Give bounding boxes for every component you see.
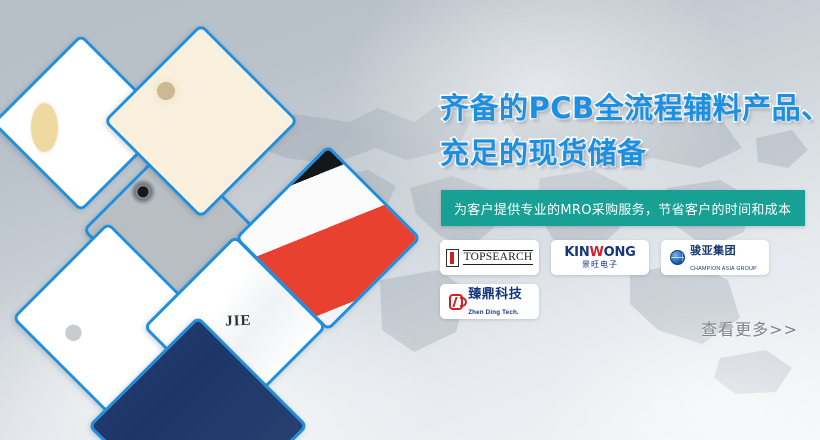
banner-subtitle-text: 为客户提供专业的MRO采购服务，节省客户的时间和成本: [441, 199, 791, 218]
kinwong-word-a: KIN: [564, 245, 589, 260]
champion-asia-wordmark-cn: 骏亚集团: [690, 245, 736, 257]
zhending-mark-icon: [449, 294, 463, 310]
globe-icon: [670, 250, 685, 265]
client-logo-row-1: TOPSEARCH KINWONG 景旺电子 骏亚集: [440, 240, 820, 275]
client-logo-champion-asia[interactable]: 骏亚集团 CHAMPION ASIA GROUP: [661, 240, 769, 275]
banner-subtitle-bar: 为客户提供专业的MRO采购服务，节省客户的时间和成本: [441, 190, 805, 226]
topsearch-mark-icon: [446, 249, 459, 267]
bag-print-label: JIE: [225, 312, 252, 330]
client-logo-topsearch[interactable]: TOPSEARCH: [440, 240, 539, 275]
client-logo-kinwong[interactable]: KINWONG 景旺电子: [551, 240, 649, 275]
banner-headline: 齐备的PCB全流程辅料产品、 充足的现货储备: [440, 86, 820, 176]
topsearch-wordmark: TOPSEARCH: [463, 250, 534, 265]
view-more-link[interactable]: 查看更多>>: [701, 316, 798, 340]
kinwong-wordmark-icon: KINWONG 景旺电子: [564, 246, 635, 269]
headline-line-2: 充足的现货储备: [440, 131, 820, 176]
zhending-wordmark-cn: 臻鼎科技: [468, 286, 522, 301]
product-diamond-collage: JIE: [0, 0, 430, 440]
headline-line-1: 齐备的PCB全流程辅料产品、: [440, 91, 820, 125]
champion-asia-wordmark-en: CHAMPION ASIA GROUP: [690, 266, 757, 272]
client-logo-row-2: 臻鼎科技 Zhen Ding Tech.: [440, 284, 820, 319]
kinwong-word-b: ONG: [604, 245, 636, 260]
zhending-wordmark-en: Zhen Ding Tech.: [468, 309, 519, 316]
kinwong-wordmark-cn: 景旺电子: [564, 261, 635, 269]
kinwong-word-accent: W: [590, 245, 604, 260]
client-logo-zhending[interactable]: 臻鼎科技 Zhen Ding Tech.: [440, 284, 539, 319]
client-logo-group: TOPSEARCH KINWONG 景旺电子 骏亚集: [440, 240, 820, 328]
banner-content: 齐备的PCB全流程辅料产品、 充足的现货储备 为客户提供专业的MRO采购服务，节…: [430, 0, 820, 440]
hero-banner: JIE 齐备的PCB全流程辅料产品、 充足的现货储备 为客户提供专业的MRO采购…: [0, 0, 820, 440]
